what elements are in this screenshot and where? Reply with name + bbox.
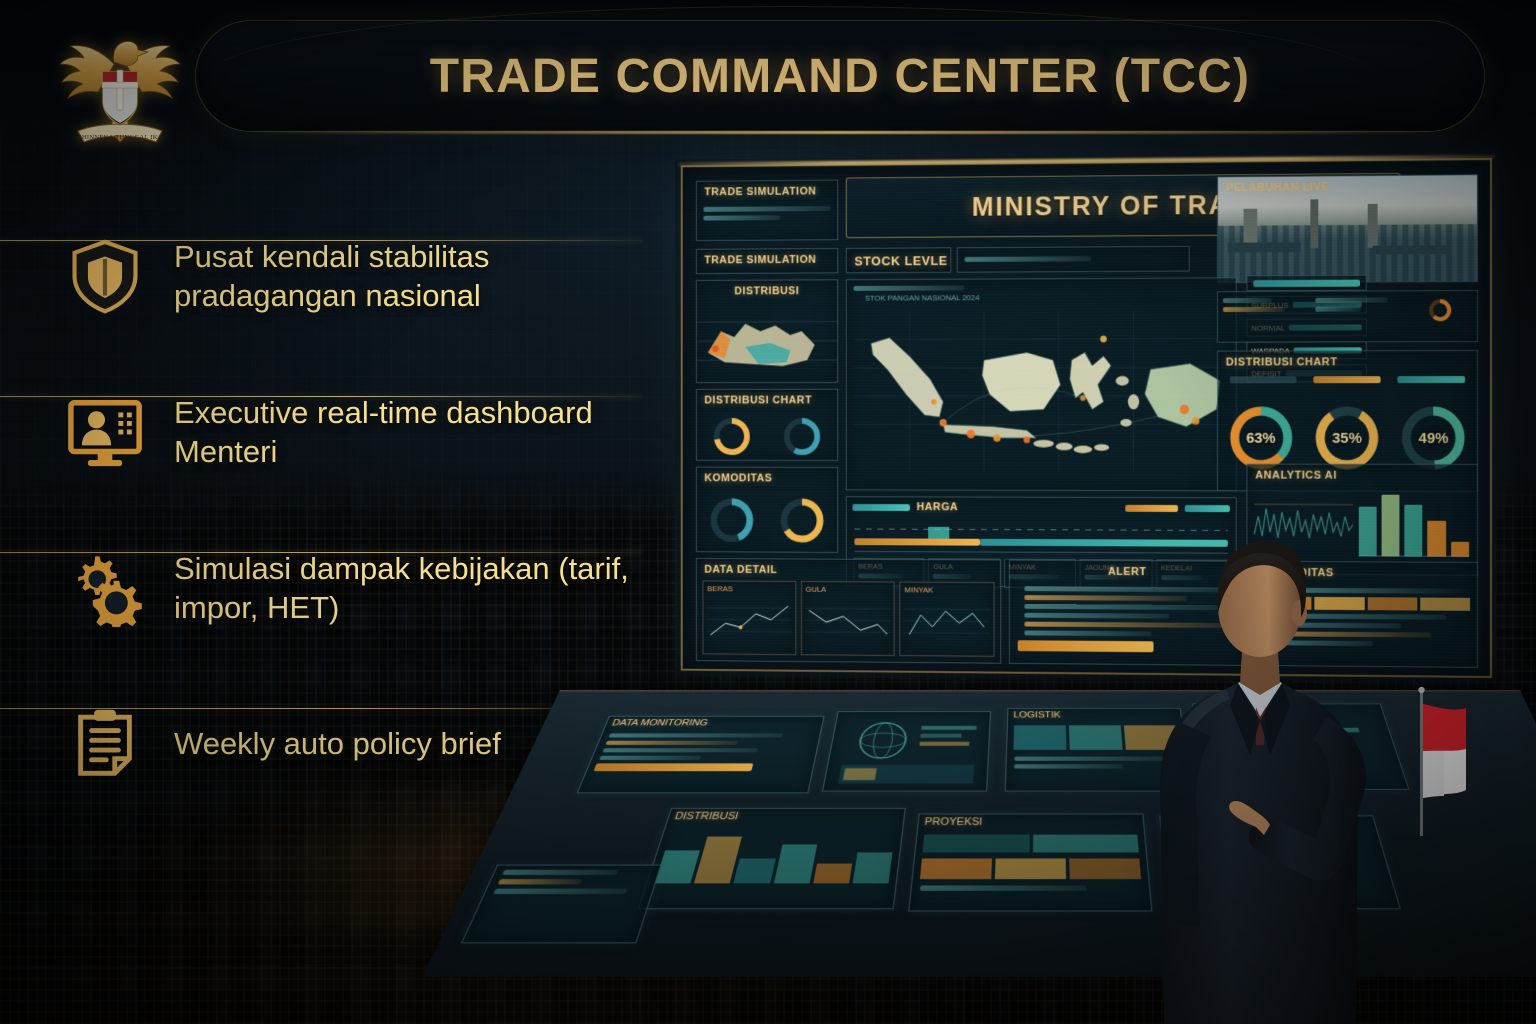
scatter-graphic: [703, 596, 795, 643]
panel-gauges-b[interactable]: KOMODITAS: [696, 467, 838, 553]
emblem-motto: BHINNEKA TUNGGAL IKA: [77, 134, 162, 141]
data-line: [1316, 307, 1361, 312]
panel-stock-level[interactable]: STOCK LEVLE: [846, 247, 951, 273]
console-panel-aux-left[interactable]: [461, 865, 662, 944]
panel-title: TRADE SIMULATION: [697, 181, 837, 204]
feature-item-simulation: Simulasi dampak kebijakan (tarif, impor,…: [0, 510, 660, 666]
mini-chart-label: BERAS: [703, 581, 795, 596]
data-line: [1223, 298, 1272, 303]
console-panel-label: DATA MONITORING: [604, 717, 823, 730]
feature-item-stability: Pusat kendali stabilitas pradagangan nas…: [0, 198, 660, 354]
feature-label: Simulasi dampak kebijakan (tarif, impor,…: [174, 549, 660, 627]
region-shape-chart: [697, 302, 837, 378]
panel-gauges-a[interactable]: DISTRIBUSI CHART: [696, 389, 838, 461]
scatter-graphic: [901, 597, 994, 645]
mini-chart[interactable]: BERAS: [703, 580, 796, 655]
scatter-graphic: [802, 597, 894, 645]
console-panel-projection[interactable]: PROYEKSI: [908, 814, 1152, 912]
panel-region-chart[interactable]: DISTRIBUSI: [696, 279, 838, 383]
panel-trade-simulation-left[interactable]: TRADE SIMULATION: [696, 248, 838, 274]
data-line: [703, 206, 830, 212]
bar-B5: [1451, 541, 1469, 556]
clipboard-icon: [62, 701, 148, 787]
shield-icon: [62, 233, 148, 319]
bar-B4: [1428, 520, 1446, 556]
mini-chart-label: MINYAK: [901, 583, 994, 598]
data-line: [703, 215, 780, 220]
panel-kpi-strip[interactable]: [1217, 290, 1478, 343]
feature-item-dashboard: Executive real-time dashboard Menteri: [0, 354, 660, 510]
tcc-infographic: BHINNEKA TUNGGAL IKA TRADE COMMAND CENTE…: [0, 0, 1536, 1024]
feature-label: Pusat kendali stabilitas pradagangan nas…: [174, 237, 660, 315]
panel-title: DATA DETAIL: [697, 559, 1000, 582]
garuda-pancasila-emblem: BHINNEKA TUNGGAL IKA: [52, 18, 188, 154]
data-line: [965, 256, 1092, 262]
donut-gauge: [781, 415, 823, 458]
mini-chart[interactable]: GULA: [801, 581, 895, 656]
panel-title: PELABUHAN LIVE: [1218, 176, 1337, 199]
mini-chart-label: GULA: [802, 582, 894, 597]
panel-port-live-feed[interactable]: PELABUHAN LIVE: [1217, 174, 1478, 283]
donut-gauge: [777, 495, 826, 546]
data-line: [1223, 307, 1285, 312]
console-panel-simulation[interactable]: [822, 711, 991, 791]
bar-B3: [1405, 505, 1423, 557]
data-line: [853, 285, 965, 290]
alert-gauge-icon: [1428, 297, 1454, 323]
panel-title: DISTRIBUSI CHART: [1218, 351, 1477, 373]
panel-indicator-charts[interactable]: DATA DETAIL BERAS GULA: [696, 558, 1001, 664]
minister-figure: [1130, 455, 1390, 1024]
console-panel-data-monitoring[interactable]: DATA MONITORING: [577, 716, 825, 793]
legend-item: [1246, 275, 1366, 291]
indonesia-flag: [1406, 686, 1478, 836]
panel-trade-simulation-top[interactable]: TRADE SIMULATION: [696, 180, 838, 241]
panel-stock-level-meta: [957, 246, 1190, 273]
panel-title: STOCK LEVLE: [847, 248, 950, 273]
feature-label: Executive real-time dashboard Menteri: [174, 393, 660, 471]
console-panel-label: PROYEKSI: [918, 815, 1144, 831]
panel-title: DISTRIBUSI CHART: [697, 390, 837, 412]
gears-icon: [62, 545, 148, 631]
console-panel-distribution[interactable]: DISTRIBUSI: [638, 808, 906, 909]
console-globe-graphic: [823, 712, 990, 791]
panel-title: TRADE SIMULATION: [697, 249, 837, 271]
donut-gauge: [711, 415, 753, 458]
monitor-user-icon: [62, 389, 148, 475]
page-title: TRADE COMMAND CENTER (TCC): [195, 20, 1485, 132]
console-panel-label: DISTRIBUSI: [667, 809, 905, 825]
panel-title: KOMODITAS: [697, 468, 837, 490]
donut-gauge: [707, 495, 756, 546]
panel-title: DISTRIBUSI: [697, 280, 837, 302]
mini-chart[interactable]: MINYAK: [900, 582, 995, 657]
panel-title: HARGA: [917, 501, 959, 513]
feature-label: Weekly auto policy brief: [174, 724, 501, 763]
data-line: [1316, 297, 1387, 302]
